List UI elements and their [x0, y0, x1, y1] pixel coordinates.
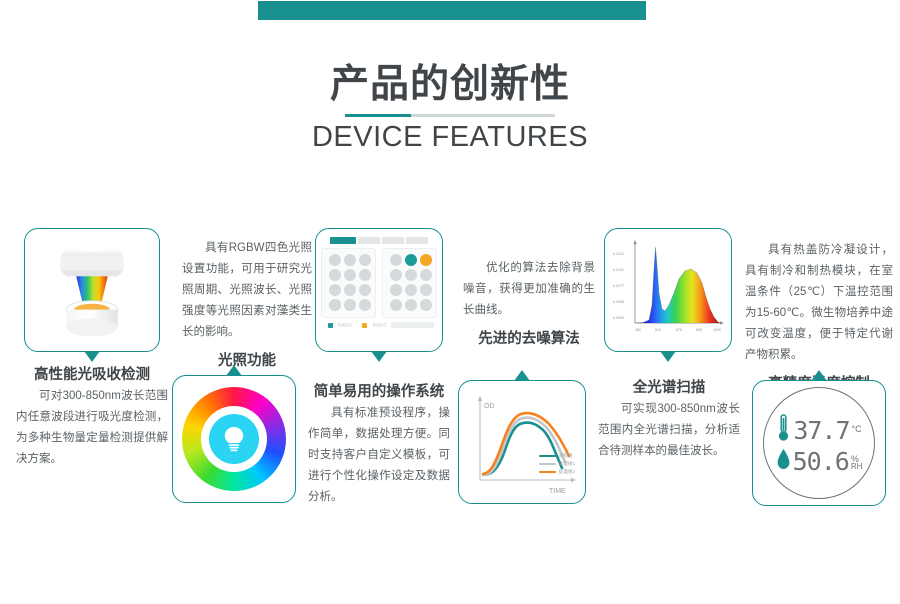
- plate-row: [390, 284, 432, 296]
- pointer-down-icon: [660, 351, 676, 362]
- title-divider: [345, 114, 555, 117]
- axis-label-y: OD: [484, 403, 495, 410]
- microplate-layout-icon: 标准品孔 样品孔位: [324, 237, 434, 343]
- text-block-illumination: 具有RGBW四色光照设置功能，可用于研究光照周期、光照波长、光照强度等光照因素对…: [182, 238, 312, 372]
- well[interactable]: [405, 299, 417, 311]
- spectrum-ytick: 0.0177: [613, 284, 624, 288]
- legend-line-control: [539, 455, 556, 458]
- feature-title-absorbance: 高性能光吸收检测: [16, 364, 168, 386]
- well[interactable]: [359, 284, 371, 296]
- well[interactable]: [405, 269, 417, 281]
- legend-swatch-sample: [362, 323, 367, 328]
- spectrum-ytick: 0.0224: [613, 252, 624, 256]
- card-full-spectrum-icon: 0.0224 0.0151 0.0177 0.0068 0.0034 350 5…: [604, 228, 732, 352]
- well[interactable]: [359, 269, 371, 281]
- feature-title-denoise: 先进的去噪算法: [463, 328, 595, 350]
- well[interactable]: [390, 269, 402, 281]
- well[interactable]: [420, 299, 432, 311]
- water-drop-icon: [776, 446, 791, 474]
- feature-body-full-spectrum: 可实现300-850nm波长范围内全光谱扫描，分析适合待测样本的最佳波长。: [598, 399, 740, 462]
- spectrum-ytick: 0.0068: [613, 300, 624, 304]
- plate-grid-left[interactable]: [321, 248, 376, 318]
- temperature-humidity-gauge-icon: 37.7 °C 50.6 % RH: [763, 387, 875, 499]
- well[interactable]: [359, 254, 371, 266]
- legend-item: 对照组: [539, 453, 575, 459]
- legend-swatch-standard: [328, 323, 333, 328]
- pointer-up-icon: [226, 365, 242, 376]
- page-title-en: DEVICE FEATURES: [0, 119, 900, 155]
- feature-body-operating-system: 具有标准预设程序，操作简单，数据处理方便。同时支持客户自定义模板，可进行个性化操…: [308, 403, 450, 508]
- pointer-down-icon: [371, 351, 387, 362]
- plate-row: [390, 269, 432, 281]
- plate-row: [390, 254, 432, 266]
- card-absorbance-icon: [24, 228, 160, 352]
- well[interactable]: [329, 269, 341, 281]
- plate-row: [390, 299, 432, 311]
- bulb-icon: [221, 425, 247, 453]
- page-title-cn: 产品的创新性: [0, 62, 900, 108]
- spectrum-ytick: 0.0034: [613, 316, 624, 320]
- well-highlight-sample[interactable]: [420, 254, 432, 266]
- plate-grid-right[interactable]: [382, 248, 437, 318]
- well[interactable]: [344, 284, 356, 296]
- well[interactable]: [420, 284, 432, 296]
- spectrum-xtick: 675: [676, 328, 682, 332]
- legend-line-treatment2: [539, 471, 556, 474]
- well[interactable]: [359, 299, 371, 311]
- spectrum-xtick: 1000: [713, 328, 721, 332]
- spectrum-xtick: 513: [655, 328, 661, 332]
- well[interactable]: [420, 269, 432, 281]
- temperature-unit: °C: [852, 424, 862, 443]
- well[interactable]: [329, 254, 341, 266]
- growth-curve-icon: OD TIME: [466, 388, 580, 498]
- humidity-readout: 50.6 % RH: [776, 446, 863, 474]
- plate-row: [329, 299, 371, 311]
- temperature-value: 37.7: [793, 418, 849, 443]
- feature-title-full-spectrum: 全光谱扫描: [598, 377, 740, 399]
- text-block-operating-system: 简单易用的操作系统 具有标准预设程序，操作简单，数据处理方便。同时支持客户自定义…: [308, 377, 450, 508]
- spectrum-chart-icon: 0.0224 0.0151 0.0177 0.0068 0.0034 350 5…: [609, 235, 729, 347]
- plate-row: [329, 269, 371, 281]
- well[interactable]: [344, 299, 356, 311]
- well[interactable]: [344, 269, 356, 281]
- page-header: 产品的创新性 DEVICE FEATURES: [0, 62, 900, 155]
- plate-tab-strip[interactable]: [324, 237, 434, 244]
- feature-body-absorbance: 可对300-850nm波长范围内任意波段进行吸光度检测，为多种生物量定量检测提供…: [16, 386, 168, 470]
- legend-label-standard: 标准品孔: [338, 323, 352, 328]
- spectrum-xtick: 350: [635, 328, 641, 332]
- plate-footer-controls[interactable]: [391, 322, 434, 328]
- feature-body-illumination: 具有RGBW四色光照设置功能，可用于研究光照周期、光照波长、光照强度等光照因素对…: [182, 238, 312, 343]
- plate-row: [329, 254, 371, 266]
- thermometer-icon: [776, 413, 791, 443]
- well[interactable]: [344, 254, 356, 266]
- text-block-full-spectrum: 全光谱扫描 可实现300-850nm波长范围内全光谱扫描，分析适合待测样本的最佳…: [598, 373, 740, 462]
- legend-label-sample: 样品孔位: [372, 323, 386, 328]
- legend-label-control: 对照组: [559, 453, 573, 459]
- feature-title-operating-system: 简单易用的操作系统: [308, 381, 450, 403]
- plate-tab-4[interactable]: [406, 237, 428, 244]
- well[interactable]: [390, 299, 402, 311]
- rgbw-color-wheel-icon: [182, 387, 286, 491]
- well[interactable]: [390, 284, 402, 296]
- pointer-up-icon: [514, 370, 530, 381]
- humidity-value: 50.6: [793, 449, 849, 474]
- plate-tab-1[interactable]: [330, 237, 356, 244]
- axis-label-x: TIME: [549, 488, 566, 495]
- plate-row: [329, 284, 371, 296]
- spectrum-ytick: 0.0151: [613, 268, 624, 272]
- plate-tab-3[interactable]: [382, 237, 404, 244]
- card-illumination-icon: [172, 375, 296, 503]
- top-accent-bar: [258, 1, 646, 20]
- feature-body-temperature: 具有热盖防冷凝设计，具有制冷和制热模块，在室温条件（25℃）下温控范围为15-6…: [745, 240, 893, 366]
- temperature-readout: 37.7 °C: [776, 413, 861, 443]
- well-highlight-standard[interactable]: [405, 254, 417, 266]
- well[interactable]: [390, 254, 402, 266]
- feature-title-illumination: 光照功能: [182, 350, 312, 372]
- card-operating-system-icon: 标准品孔 样品孔位: [315, 228, 443, 352]
- humidity-unit-rh: RH: [851, 463, 863, 472]
- spectrum-xtick: 838: [696, 328, 702, 332]
- well[interactable]: [329, 284, 341, 296]
- pointer-up-icon: [811, 370, 827, 381]
- text-block-denoise: 优化的算法去除背景噪音，获得更加准确的生长曲线。 先进的去噪算法: [463, 258, 595, 350]
- legend-item: 处理组2: [539, 469, 575, 475]
- card-denoise-icon: OD TIME 对照组 处理组1 处理组2: [458, 380, 586, 504]
- well[interactable]: [329, 299, 341, 311]
- plate-tab-2[interactable]: [358, 237, 380, 244]
- legend-line-treatment1: [539, 463, 556, 466]
- legend-item: 处理组1: [539, 461, 575, 467]
- device-features-page: 产品的创新性 DEVICE FEATURES: [0, 0, 900, 604]
- feature-body-denoise: 优化的算法去除背景噪音，获得更加准确的生长曲线。: [463, 258, 595, 321]
- growth-curve-legend: 对照组 处理组1 处理组2: [539, 453, 575, 477]
- light-cuvette-icon: [25, 229, 159, 351]
- legend-label-treatment1: 处理组1: [559, 461, 575, 467]
- well[interactable]: [405, 284, 417, 296]
- card-temperature-icon: 37.7 °C 50.6 % RH: [752, 380, 886, 506]
- text-block-absorbance: 高性能光吸收检测 可对300-850nm波长范围内任意波段进行吸光度检测，为多种…: [16, 360, 168, 470]
- legend-label-treatment2: 处理组2: [559, 469, 575, 475]
